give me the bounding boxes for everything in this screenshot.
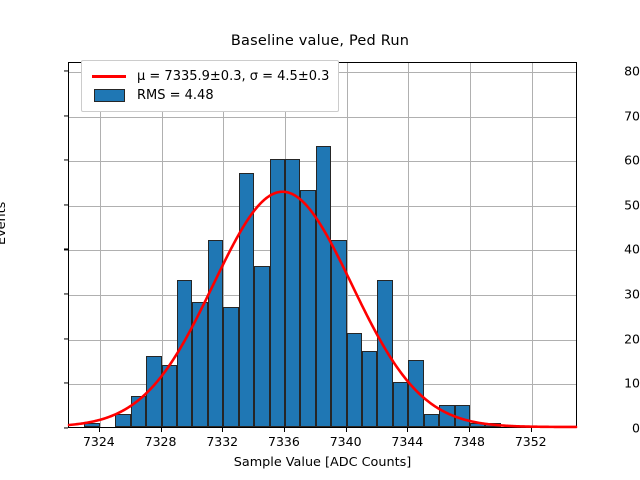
- y-tick-mark: [64, 115, 68, 116]
- y-tick-label: 40: [581, 242, 640, 257]
- x-axis-label: Sample Value [ADC Counts]: [68, 455, 577, 470]
- y-tick-label: 60: [581, 153, 640, 168]
- legend-entry-rms: RMS = 4.48: [90, 86, 329, 105]
- y-tick-mark: [64, 70, 68, 71]
- y-tick-mark: [64, 204, 68, 205]
- y-tick-mark: [64, 160, 68, 161]
- plot-axes: [68, 62, 577, 428]
- x-tick-mark: [284, 428, 285, 432]
- y-tick-label: 20: [581, 331, 640, 346]
- y-tick-mark: [64, 249, 68, 250]
- y-axis-label: Events: [0, 202, 9, 245]
- x-tick-label: 7340: [330, 434, 362, 449]
- x-tick-mark: [531, 428, 532, 432]
- legend-patch-swatch: [90, 89, 128, 103]
- x-tick-label: 7324: [83, 434, 115, 449]
- x-tick-mark: [161, 428, 162, 432]
- x-tick-label: 7336: [268, 434, 300, 449]
- x-tick-label: 7348: [453, 434, 485, 449]
- y-tick-mark: [64, 338, 68, 339]
- gaussian-fit-curve: [69, 63, 576, 427]
- figure-canvas: Baseline value, Ped Run 0102030405060708…: [0, 0, 640, 480]
- x-tick-mark: [222, 428, 223, 432]
- y-tick-label: 30: [581, 287, 640, 302]
- x-tick-mark: [346, 428, 347, 432]
- x-tick-mark: [407, 428, 408, 432]
- x-tick-label: 7332: [206, 434, 238, 449]
- x-tick-label: 7328: [145, 434, 177, 449]
- y-tick-label: 0: [581, 421, 640, 436]
- legend-label-fit: μ = 7335.9±0.3, σ = 4.5±0.3: [137, 69, 329, 84]
- x-tick-label: 7344: [391, 434, 423, 449]
- y-tick-label: 80: [581, 63, 640, 78]
- x-tick-mark: [469, 428, 470, 432]
- y-tick-label: 10: [581, 376, 640, 391]
- legend-label-rms: RMS = 4.48: [137, 88, 214, 103]
- y-tick-label: 50: [581, 197, 640, 212]
- legend-line-swatch: [90, 70, 128, 84]
- legend-entry-fit: μ = 7335.9±0.3, σ = 4.5±0.3: [90, 67, 329, 86]
- chart-legend: μ = 7335.9±0.3, σ = 4.5±0.3 RMS = 4.48: [81, 60, 339, 112]
- x-tick-mark: [99, 428, 100, 432]
- y-tick-mark: [64, 427, 68, 428]
- x-tick-label: 7352: [515, 434, 547, 449]
- y-tick-label: 70: [581, 108, 640, 123]
- chart-title: Baseline value, Ped Run: [0, 33, 640, 49]
- y-tick-mark: [64, 383, 68, 384]
- y-tick-mark: [64, 294, 68, 295]
